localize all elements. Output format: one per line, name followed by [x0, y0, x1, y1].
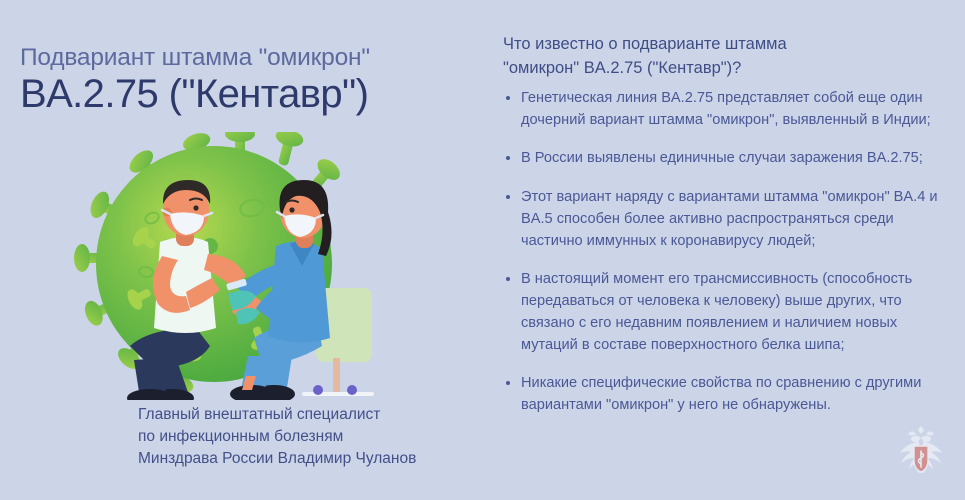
title-main: BA.2.75 ("Кентавр") [20, 72, 490, 116]
title-subtitle: Подвариант штамма "омикрон" [20, 44, 490, 71]
list-item: Генетическая линия BA.2.75 представляет … [503, 88, 943, 131]
vaccination-illustration [0, 132, 492, 400]
infographic-poster: Подвариант штамма "омикрон" BA.2.75 ("Ке… [0, 0, 965, 500]
bullet-dot-icon [506, 156, 510, 160]
caption-line-1: Главный внештатный специалист [138, 404, 478, 426]
title-block: Подвариант штамма "омикрон" BA.2.75 ("Ке… [20, 44, 490, 116]
list-item-text: В настоящий момент его трансмиссивность … [521, 269, 943, 356]
bullet-dot-icon [506, 195, 510, 199]
ministry-of-health-emblem-icon [893, 424, 949, 486]
list-item-text: Этот вариант наряду с вариантами штамма … [521, 187, 943, 252]
list-item: В настоящий момент его трансмиссивность … [503, 269, 943, 356]
heading-line-1: Что известно о подварианте штамма [503, 32, 903, 56]
caption-line-3: Минздрава России Владимир Чуланов [138, 448, 478, 470]
caption-block: Главный внештатный специалист по инфекци… [138, 404, 478, 470]
left-panel: Подвариант штамма "омикрон" BA.2.75 ("Ке… [0, 0, 492, 500]
list-item: В России выявлены единичные случаи зараж… [503, 148, 943, 170]
right-panel-heading: Что известно о подварианте штамма "омикр… [503, 32, 903, 81]
caption-line-2: по инфекционным болезням [138, 426, 478, 448]
right-panel: Что известно о подварианте штамма "омикр… [497, 0, 965, 500]
bullet-dot-icon [506, 381, 510, 385]
facts-bullet-list: Генетическая линия BA.2.75 представляет … [503, 88, 943, 417]
list-item: Этот вариант наряду с вариантами штамма … [503, 187, 943, 252]
list-item-text: Генетическая линия BA.2.75 представляет … [521, 88, 943, 131]
heading-line-2: "омикрон" BA.2.75 ("Кентавр")? [503, 56, 903, 80]
list-item-text: Никакие специфические свойства по сравне… [521, 373, 943, 416]
bullet-dot-icon [506, 96, 510, 100]
list-item: Никакие специфические свойства по сравне… [503, 373, 943, 416]
list-item-text: В России выявлены единичные случаи зараж… [521, 148, 943, 170]
bullet-dot-icon [506, 277, 510, 281]
